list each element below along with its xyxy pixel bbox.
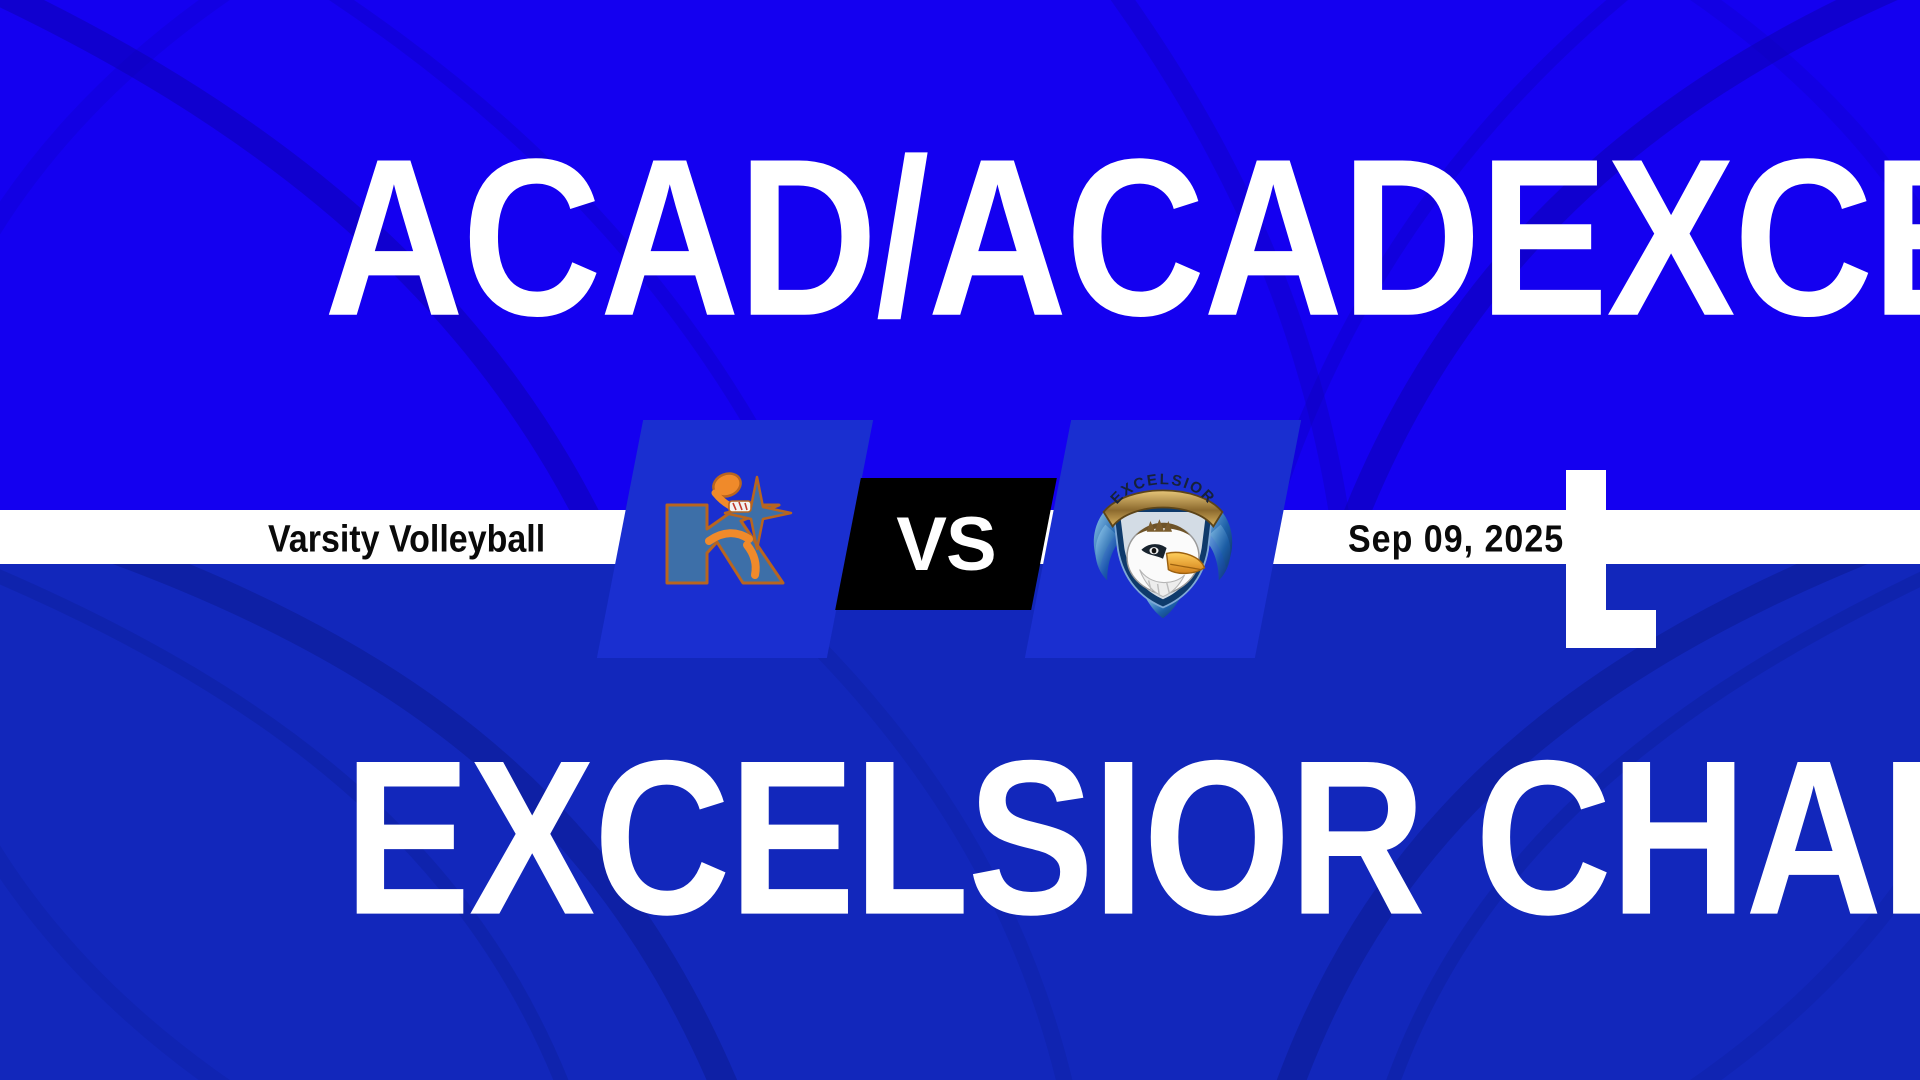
band-overlap-right (1566, 510, 1726, 564)
away-team-tile: EXCELSIOR (1025, 420, 1301, 658)
excelsior-eagle-icon: EXCELSIOR (1073, 449, 1253, 629)
vs-block: VS (835, 478, 1057, 610)
headline-bottom: EXCELSIOR CHAR. (344, 728, 1920, 948)
home-team-logo (620, 420, 850, 658)
sport-label: Varsity Volleyball (268, 518, 545, 562)
game-date: Sep 09, 2025 (1348, 518, 1564, 562)
headline-top: ACAD/ACADEXCEL (324, 126, 1920, 350)
kingsway-k-icon (645, 449, 825, 629)
away-team-logo: EXCELSIOR (1048, 420, 1278, 658)
vs-label: VS (848, 478, 1044, 610)
matchup-graphic: ACAD/ACADEXCEL EXCELSIOR CHAR. Varsity V… (0, 0, 1920, 1080)
home-team-tile (597, 420, 873, 658)
